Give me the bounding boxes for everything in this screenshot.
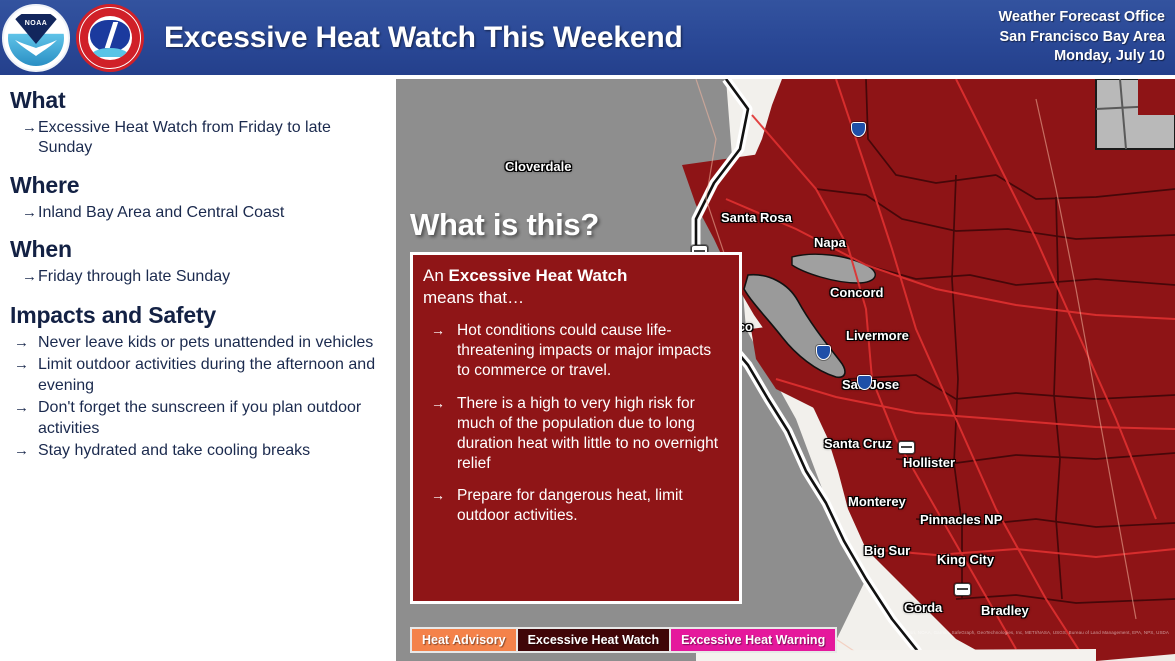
section-where: Where → Inland Bay Area and Central Coas… (8, 172, 388, 223)
bullet-text: Don't forget the sunscreen if you plan o… (38, 398, 388, 439)
map-legend: Heat Advisory Excessive Heat Watch Exces… (410, 627, 837, 653)
arrow-icon: → (423, 394, 457, 412)
section-heading-when: When (10, 236, 388, 263)
bullet-text: Prepare for dangerous heat, limit outdoo… (457, 486, 727, 526)
what-is-this-box: An Excessive Heat Watch means that… → Ho… (410, 252, 742, 604)
page-header: NOAA Excessive Heat Watch This Weekend W… (0, 0, 1175, 75)
arrow-icon: → (8, 398, 38, 417)
page-title: Excessive Heat Watch This Weekend (164, 21, 683, 55)
section-what: What → Excessive Heat Watch from Friday … (8, 87, 388, 159)
whatis-bullet-0: → Hot conditions could cause life-threat… (423, 321, 727, 381)
bullet-text: Never leave kids or pets unattended in v… (38, 333, 388, 353)
noaa-logo-text: NOAA (25, 20, 48, 27)
arrow-icon: → (8, 267, 38, 286)
arrow-icon: → (8, 355, 38, 374)
bullet-what-0: → Excessive Heat Watch from Friday to la… (8, 118, 388, 159)
office-region: San Francisco Bay Area (998, 28, 1165, 48)
section-heading-impacts: Impacts and Safety (10, 302, 388, 329)
legend-item-heat-advisory[interactable]: Heat Advisory (412, 629, 518, 651)
section-when: When → Friday through late Sunday (8, 236, 388, 287)
bullet-text: There is a high to very high risk for mu… (457, 394, 727, 475)
info-panel: What → Excessive Heat Watch from Friday … (0, 75, 396, 661)
bullet-when-0: → Friday through late Sunday (8, 267, 388, 287)
whatis-bullet-1: → There is a high to very high risk for … (423, 394, 727, 475)
bullet-text: Stay hydrated and take cooling breaks (38, 441, 388, 461)
bullet-impacts-1: → Limit outdoor activities during the af… (8, 355, 388, 396)
bullet-impacts-2: → Don't forget the sunscreen if you plan… (8, 398, 388, 439)
what-is-this-lead: An Excessive Heat Watch means that… (423, 265, 727, 309)
section-impacts-and-safety: Impacts and Safety → Never leave kids or… (8, 302, 388, 462)
bullet-impacts-0: → Never leave kids or pets unattended in… (8, 333, 388, 353)
arrow-icon: → (8, 118, 38, 137)
lead-term: Excessive Heat Watch (449, 266, 628, 285)
arrow-icon: → (423, 321, 457, 339)
agency-logos: NOAA (0, 0, 144, 75)
bullet-text: Limit outdoor activities during the afte… (38, 355, 388, 396)
us-route-shield-icon (954, 583, 971, 596)
forecast-office-block: Weather Forecast Office San Francisco Ba… (998, 8, 1175, 67)
what-is-this-callout: What is this? An Excessive Heat Watch me… (410, 207, 742, 604)
office-name: Weather Forecast Office (998, 8, 1165, 28)
hazard-map[interactable]: Cloverdale Santa Rosa Napa Concord San F… (396, 79, 1175, 661)
nws-logo-icon (76, 4, 144, 72)
map-attribution: Esri, NOAA, Garmin, SafeGraph, GeoTechno… (907, 630, 1169, 635)
lead-suffix: means that… (423, 288, 524, 307)
arrow-icon: → (8, 333, 38, 352)
us-route-shield-icon (898, 441, 915, 454)
whatis-bullet-2: → Prepare for dangerous heat, limit outd… (423, 486, 727, 526)
noaa-bird-icon (13, 38, 59, 58)
bullet-text: Hot conditions could cause life-threaten… (457, 321, 727, 381)
lead-prefix: An (423, 266, 449, 285)
bullet-impacts-3: → Stay hydrated and take cooling breaks (8, 441, 388, 461)
map-inset-red (1138, 79, 1175, 115)
arrow-icon: → (8, 441, 38, 460)
legend-item-excessive-heat-watch[interactable]: Excessive Heat Watch (518, 629, 672, 651)
arrow-icon: → (8, 203, 38, 222)
bullet-where-0: → Inland Bay Area and Central Coast (8, 203, 388, 223)
bullet-text: Friday through late Sunday (38, 267, 388, 287)
what-is-this-title: What is this? (410, 207, 742, 243)
bullet-text: Inland Bay Area and Central Coast (38, 203, 388, 223)
noaa-logo-icon: NOAA (2, 4, 70, 72)
section-heading-what: What (10, 87, 388, 114)
arrow-icon: → (423, 486, 457, 504)
section-heading-where: Where (10, 172, 388, 199)
issue-date: Monday, July 10 (998, 47, 1165, 67)
bullet-text: Excessive Heat Watch from Friday to late… (38, 118, 388, 159)
legend-item-excessive-heat-warning[interactable]: Excessive Heat Warning (671, 629, 835, 651)
